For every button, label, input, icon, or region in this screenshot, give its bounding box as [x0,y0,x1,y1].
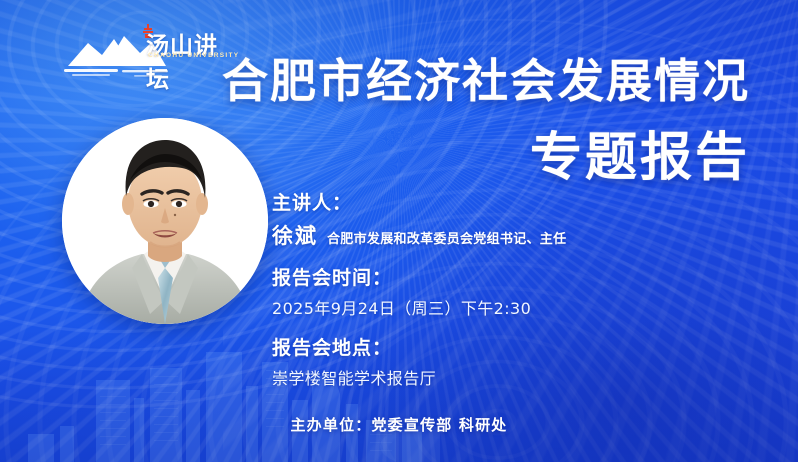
speaker-label: 主讲人： [272,188,752,215]
seminar-poster: 汤山讲坛 CHAOHU UNIVERSITY 合肥市经济社会发展情况 专题报告 [0,0,798,462]
speaker-portrait-photo [62,118,268,324]
venue-label: 报告会地点： [272,333,752,360]
speaker-name: 徐斌 [272,220,318,250]
speaker-row: 徐斌 合肥市发展和改革委员会党组书记、主任 [272,220,752,250]
time-label: 报告会时间： [272,263,752,290]
headline-line-2: 专题报告 [530,132,750,184]
time-value: 2025年9月24日（周三）下午2:30 [272,295,752,319]
speaker-portrait [62,118,268,324]
speaker-title: 合肥市发展和改革委员会党组书记、主任 [327,228,566,247]
brand-logo[interactable]: 汤山讲坛 CHAOHU UNIVERSITY [62,22,238,80]
organizer-footer: 主办单位：党委宣传部 科研处 [0,414,798,435]
headline-line-1: 合肥市经济社会发展情况 [222,58,750,104]
venue-value: 崇学楼智能学术报告厅 [272,365,752,389]
event-details: 主讲人： 徐斌 合肥市发展和改革委员会党组书记、主任 报告会时间： 2025年9… [272,188,752,389]
